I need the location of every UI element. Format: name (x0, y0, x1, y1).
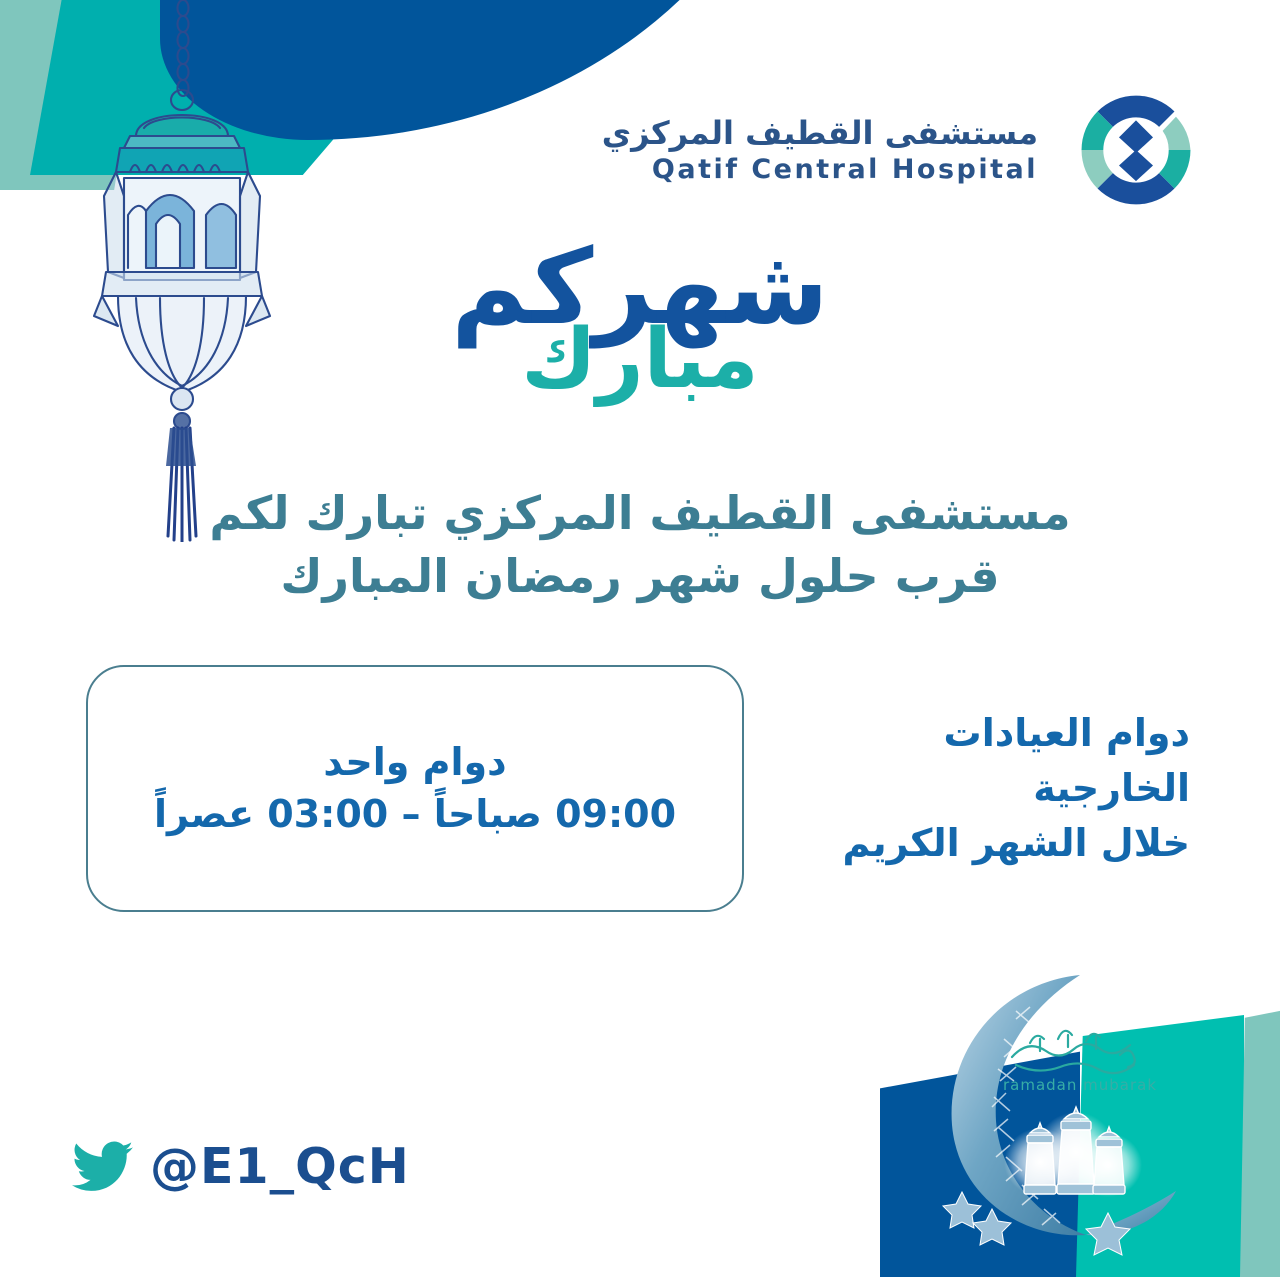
brand-name-english: Qatif Central Hospital (602, 154, 1038, 185)
greeting-line-2: قرب حلول شهر رمضان المبارك (0, 545, 1280, 608)
brand-name-arabic: مستشفى القطيف المركزي (602, 115, 1038, 152)
crescent-moon-icon: ramadan mubarak (880, 947, 1280, 1277)
twitter-bird-icon[interactable] (72, 1141, 134, 1193)
ramadan-mubarak-english-text: ramadan mubarak (1003, 1076, 1157, 1094)
clinic-hours-section: دوام العيادات الخارجية خلال الشهر الكريم… (86, 665, 1194, 912)
clinic-hours-box: دوام واحد 09:00 صباحاً – 03:00 عصراً (86, 665, 744, 912)
twitter-social-link[interactable]: @E1_QcH (72, 1138, 410, 1195)
twitter-handle-text[interactable]: @E1_QcH (150, 1138, 410, 1195)
greeting-message: مستشفى القطيف المركزي تبارك لكم قرب حلول… (0, 482, 1280, 609)
hospital-logo-icon (1062, 76, 1210, 224)
poster-canvas: مستشفى القطيف المركزي Qatif Central Hosp… (0, 0, 1280, 1277)
clinic-hours-label: دوام العيادات الخارجية خلال الشهر الكريم (800, 706, 1194, 871)
ramadan-artwork: ramadan mubarak (880, 947, 1280, 1277)
brand-names: مستشفى القطيف المركزي Qatif Central Hosp… (602, 115, 1038, 185)
greeting-line-1: مستشفى القطيف المركزي تبارك لكم (0, 482, 1280, 545)
clinic-shift-text: دوام واحد (323, 737, 506, 788)
calligraphy-line-2: مبارك (0, 322, 1280, 397)
clinic-time-range: 09:00 صباحاً – 03:00 عصراً (154, 789, 676, 840)
brand-header: مستشفى القطيف المركزي Qatif Central Hosp… (602, 76, 1210, 224)
ramadan-calligraphy: شهركم مبارك (0, 238, 1280, 397)
clinic-hours-label-line-1: دوام العيادات الخارجية (800, 706, 1190, 816)
clinic-hours-label-line-2: خلال الشهر الكريم (800, 816, 1190, 871)
